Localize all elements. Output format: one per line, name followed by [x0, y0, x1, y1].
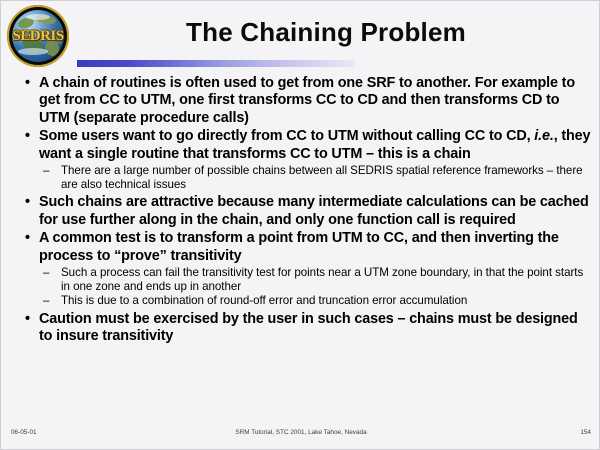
- bullet-item: • A chain of routines is often used to g…: [15, 75, 593, 127]
- bullet-item: • A common test is to transform a point …: [15, 230, 593, 308]
- sub-bullet-text: There are a large number of possible cha…: [61, 164, 583, 191]
- bullet-list-level2: – There are a large number of possible c…: [39, 164, 593, 192]
- sub-bullet-glyph: –: [43, 266, 49, 280]
- bullet-list-level1: • A chain of routines is often used to g…: [15, 75, 593, 345]
- sub-bullet-item: – This is due to a combination of round-…: [39, 294, 593, 308]
- slide-footer: 06-05-01 SRM Tutorial, STC 2001, Lake Ta…: [1, 429, 600, 441]
- bullet-text-part: Some users want to go directly from CC t…: [39, 128, 534, 144]
- sub-bullet-glyph: –: [43, 294, 49, 308]
- slide-canvas: SEDRIS ™ The Chaining Problem • A chain …: [0, 0, 600, 450]
- bullet-list-level2: – Such a process can fail the transitivi…: [39, 266, 593, 309]
- bullet-text-italic: i.e.: [534, 128, 553, 144]
- globe-cloud: [18, 48, 48, 55]
- bullet-glyph: •: [25, 194, 30, 211]
- bullet-text: A common test is to transform a point fr…: [39, 230, 559, 263]
- bullet-text: Such chains are attractive because many …: [39, 194, 589, 227]
- bullet-glyph: •: [25, 128, 30, 145]
- bullet-text: Caution must be exercised by the user in…: [39, 311, 578, 344]
- bullet-item: • Caution must be exercised by the user …: [15, 311, 593, 346]
- slide-body: • A chain of routines is often used to g…: [15, 75, 593, 413]
- trademark-symbol: ™: [56, 42, 61, 47]
- bullet-text: A chain of routines is often used to get…: [39, 75, 575, 126]
- bullet-glyph: •: [25, 230, 30, 247]
- sedris-logo-icon: SEDRIS ™: [7, 5, 69, 67]
- sub-bullet-text: This is due to a combination of round-of…: [61, 294, 467, 307]
- sub-bullet-item: – There are a large number of possible c…: [39, 164, 593, 192]
- sub-bullet-item: – Such a process can fail the transitivi…: [39, 266, 593, 294]
- sub-bullet-text: Such a process can fail the transitivity…: [61, 266, 583, 293]
- footer-conference: SRM Tutorial, STC 2001, Lake Tahoe, Neva…: [1, 429, 600, 436]
- sub-bullet-glyph: –: [43, 164, 49, 178]
- bullet-glyph: •: [25, 311, 30, 328]
- slide-title: The Chaining Problem: [91, 17, 561, 47]
- globe-cloud: [26, 14, 50, 20]
- footer-page-number: 154: [580, 429, 591, 436]
- bullet-item: • Some users want to go directly from CC…: [15, 128, 593, 192]
- bullet-item: • Such chains are attractive because man…: [15, 194, 593, 229]
- bullet-glyph: •: [25, 75, 30, 92]
- title-gradient-divider: [77, 60, 355, 67]
